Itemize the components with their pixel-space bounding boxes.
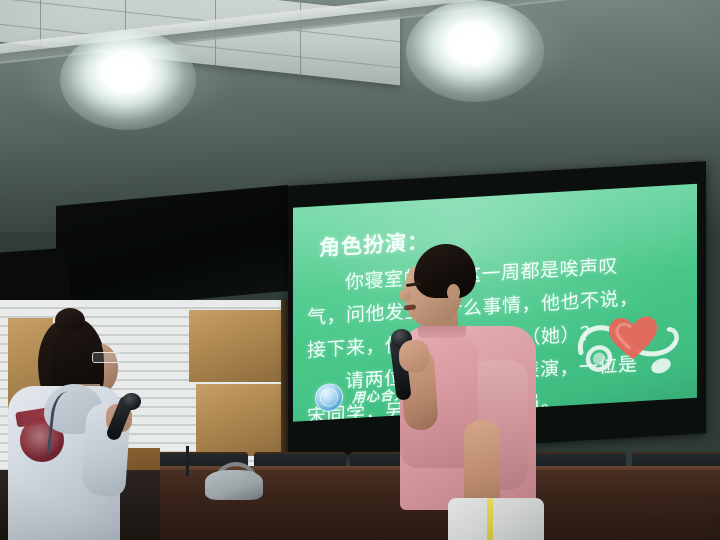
wood-wall-panel [196,384,282,456]
ceiling-spotlight-left-core [105,62,147,94]
girl-microphone-head [122,393,141,410]
boy-ear [447,284,460,301]
wall-dark-panel [56,185,288,312]
boy-hand [399,340,429,372]
girl-glasses [92,352,120,363]
boy-shorts [448,498,544,540]
backpack-on-desk [205,470,263,500]
microphone-stand [186,446,189,476]
boy-shorts-stripe [487,498,493,540]
school-crest-logo-icon [315,383,343,413]
boy-nose [399,289,411,301]
ceiling-spotlight-right-core [452,32,496,66]
classroom-presentation-photo: 角色扮演： 你寝室的同学这一周都是唉声叹 气，问他发生了什么事情，他也不说， 接… [0,0,720,540]
boy-hair [414,244,476,298]
heart-stethoscope-graphic [575,307,683,387]
slide-title: 角色扮演： [319,226,429,263]
wood-wall-panel [189,310,281,382]
